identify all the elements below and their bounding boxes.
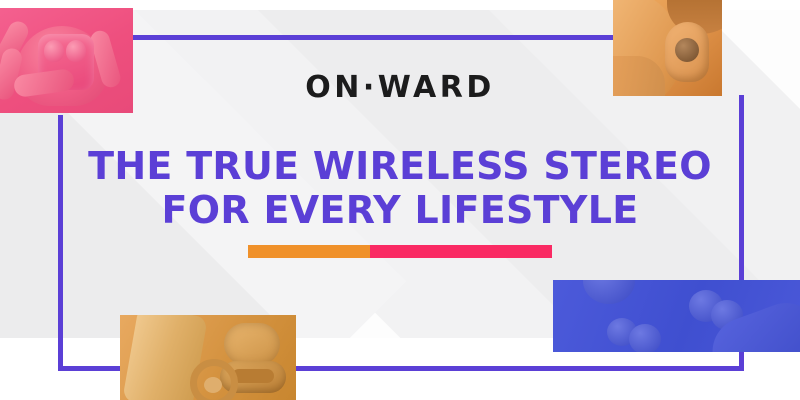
photo-shape-earbud bbox=[44, 40, 64, 62]
accent-bar-segment-orange bbox=[248, 245, 370, 258]
promo-banner: ON·WARD THE TRUE WIRELESS STEREO FOR EVE… bbox=[0, 0, 800, 400]
photo-shape-case-slot bbox=[232, 369, 274, 383]
headline-line-1: THE TRUE WIRELESS STEREO bbox=[88, 144, 712, 188]
photo-earbuds-with-charging-case bbox=[120, 315, 296, 400]
headline: THE TRUE WIRELESS STEREO FOR EVERY LIFES… bbox=[0, 144, 800, 232]
accent-bar bbox=[248, 245, 552, 258]
photo-earbuds-flat-lay bbox=[553, 280, 800, 352]
brand-logo: ON·WARD bbox=[0, 70, 800, 105]
headline-line-2: FOR EVERY LIFESTYLE bbox=[0, 188, 800, 232]
frame-line-top bbox=[128, 35, 614, 40]
photo-shape-case-lid bbox=[224, 323, 280, 365]
photo-shape-earbud bbox=[204, 377, 222, 393]
photo-shape-earbud bbox=[66, 40, 86, 62]
photo-shape-earbud bbox=[629, 324, 661, 352]
accent-bar-segment-pink bbox=[370, 245, 552, 258]
photo-shape-earbud bbox=[675, 38, 699, 62]
